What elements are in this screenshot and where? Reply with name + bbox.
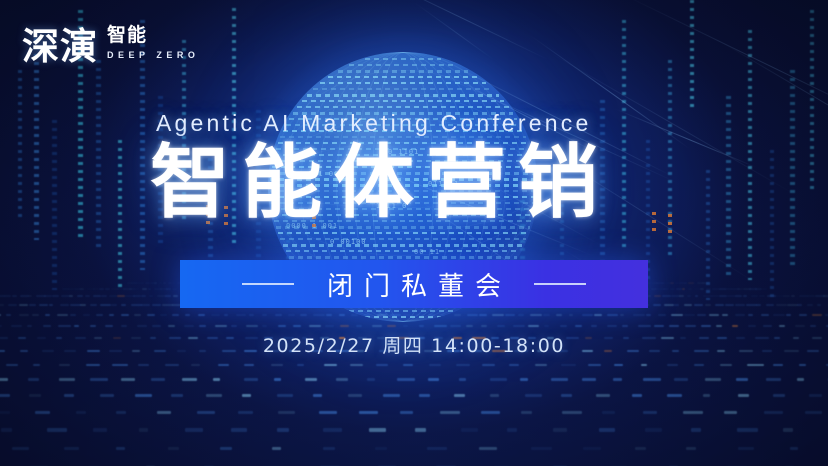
page-title: 智能体营销 [150,141,690,225]
brand-logo-stack: 智能 DEEP ZERO [107,26,199,65]
brand-logo-en: DEEP ZERO [107,49,199,63]
event-datetime: 2025/2/27 周四 14:00-18:00 [0,331,828,358]
brand-logo-sub-cn: 智能 [107,26,199,45]
conference-eyebrow: Agentic AI Marketing Conference [156,110,676,137]
subtitle-ribbon: 闭门私董会 [180,260,648,308]
ribbon-dash-left [242,283,294,285]
brand-logo-cn: 深演 [22,28,98,65]
brand-logo[interactable]: 深演 智能 DEEP ZERO [22,26,199,65]
ribbon-dash-right [534,283,586,285]
event-poster: 0000 1 0010 001001011 000 11101 00110 11… [0,0,828,466]
ribbon-label: 闭门私董会 [316,266,512,303]
